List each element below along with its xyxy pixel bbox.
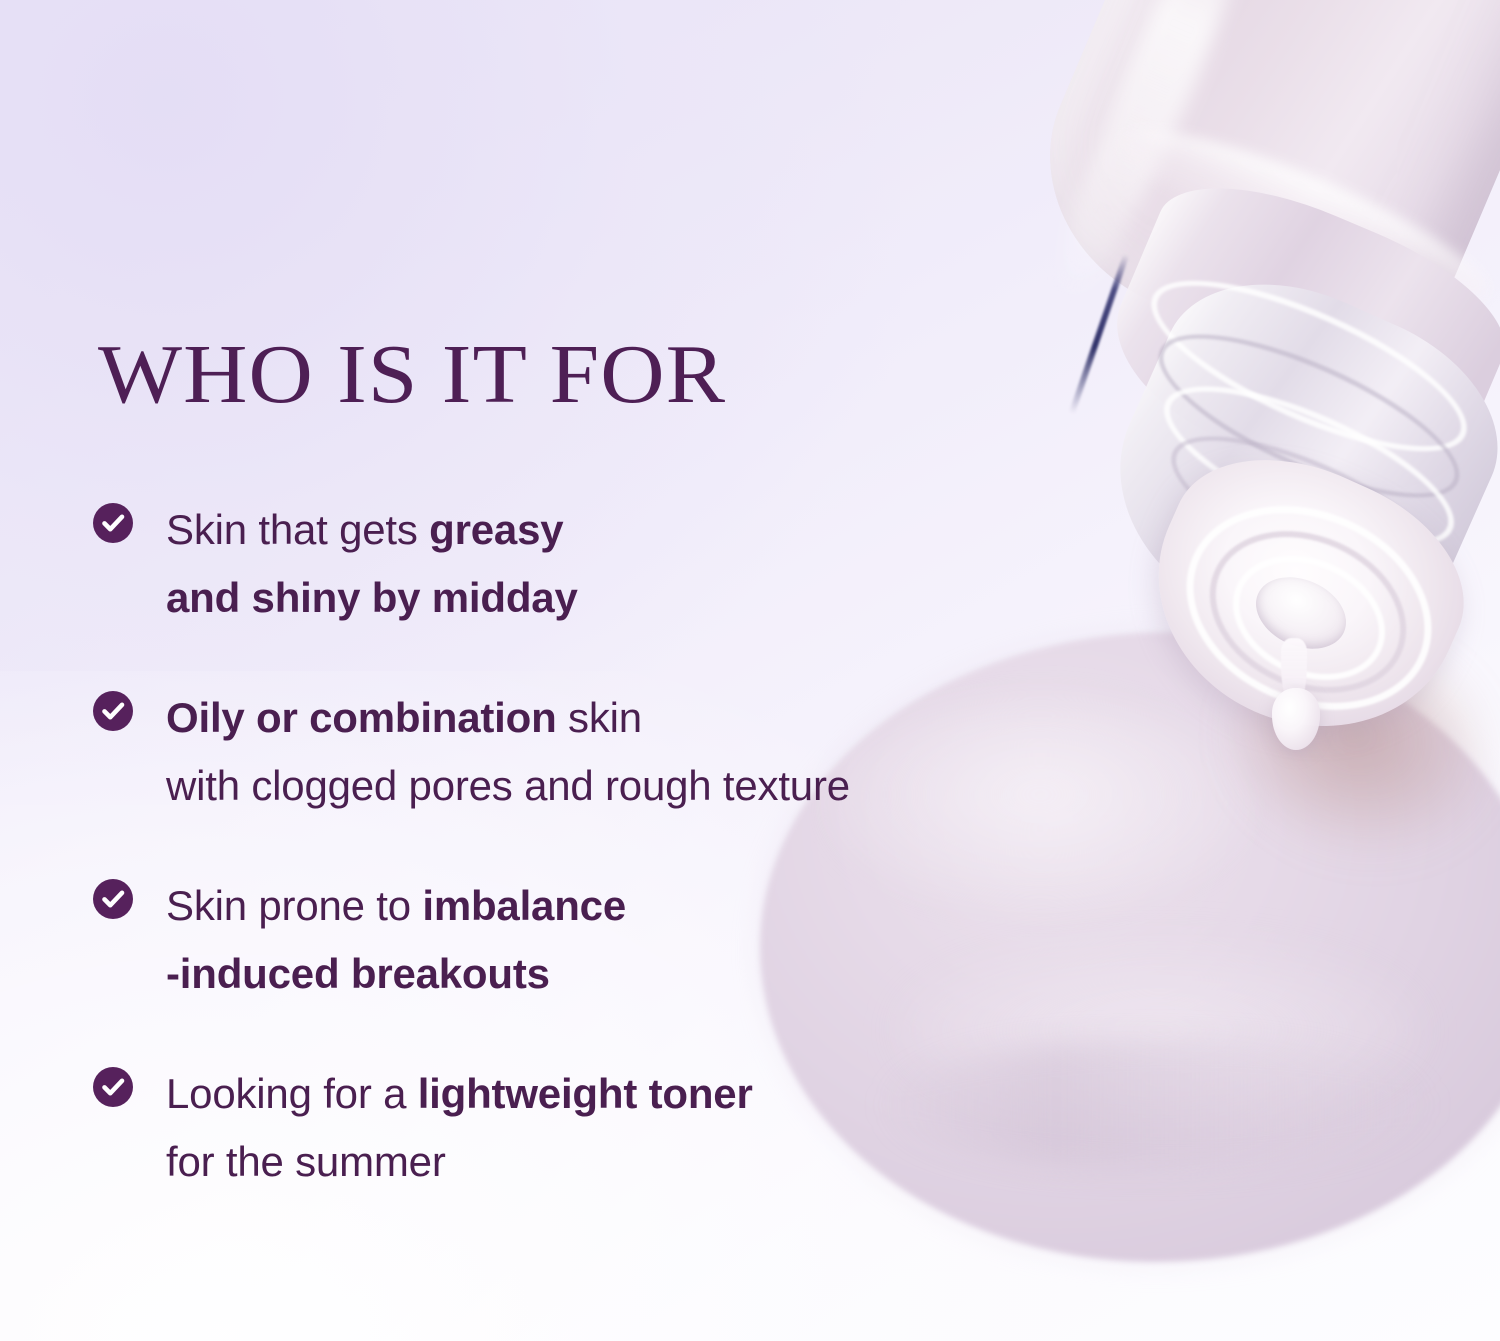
benefit-line: Skin prone to imbalance xyxy=(166,872,1072,940)
benefit-text-emphasis: Oily or combination xyxy=(166,694,557,741)
benefit-item: Skin prone to imbalance-induced breakout… xyxy=(92,872,1072,1008)
page-title: WHO IS IT FOR xyxy=(98,333,726,417)
benefit-item: Oily or combination skinwith clogged por… xyxy=(92,684,1072,820)
benefit-line: Skin that gets greasy xyxy=(166,496,1072,564)
check-circle-icon xyxy=(92,878,134,920)
benefit-item: Looking for a lightweight tonerfor the s… xyxy=(92,1060,1072,1196)
benefit-line: with clogged pores and rough texture xyxy=(166,752,1072,820)
benefit-text-emphasis: greasy xyxy=(429,506,563,553)
benefit-text-emphasis: imbalance xyxy=(422,882,626,929)
benefit-item: Skin that gets greasyand shiny by midday xyxy=(92,496,1072,632)
benefit-text: with clogged pores and rough texture xyxy=(166,762,850,809)
benefit-text-emphasis: -induced breakouts xyxy=(166,950,550,997)
check-circle-icon xyxy=(92,1066,134,1108)
benefit-line: and shiny by midday xyxy=(166,564,1072,632)
benefit-text: for the summer xyxy=(166,1138,446,1185)
benefit-text-emphasis: lightweight toner xyxy=(418,1070,753,1117)
check-circle-icon xyxy=(92,690,134,732)
benefit-line: -induced breakouts xyxy=(166,940,1072,1008)
infographic-canvas: WHO IS IT FOR Skin that gets greasyand s… xyxy=(0,0,1500,1341)
benefit-list: Skin that gets greasyand shiny by midday… xyxy=(92,496,1072,1196)
check-circle-icon xyxy=(92,502,134,544)
benefit-text: skin xyxy=(557,694,642,741)
benefit-text: Skin prone to xyxy=(166,882,422,929)
benefit-line: for the summer xyxy=(166,1128,1072,1196)
benefit-text-emphasis: and shiny by midday xyxy=(166,574,578,621)
benefit-line: Oily or combination skin xyxy=(166,684,1072,752)
benefit-text: Looking for a xyxy=(166,1070,418,1117)
benefit-line: Looking for a lightweight toner xyxy=(166,1060,1072,1128)
benefit-text: Skin that gets xyxy=(166,506,429,553)
